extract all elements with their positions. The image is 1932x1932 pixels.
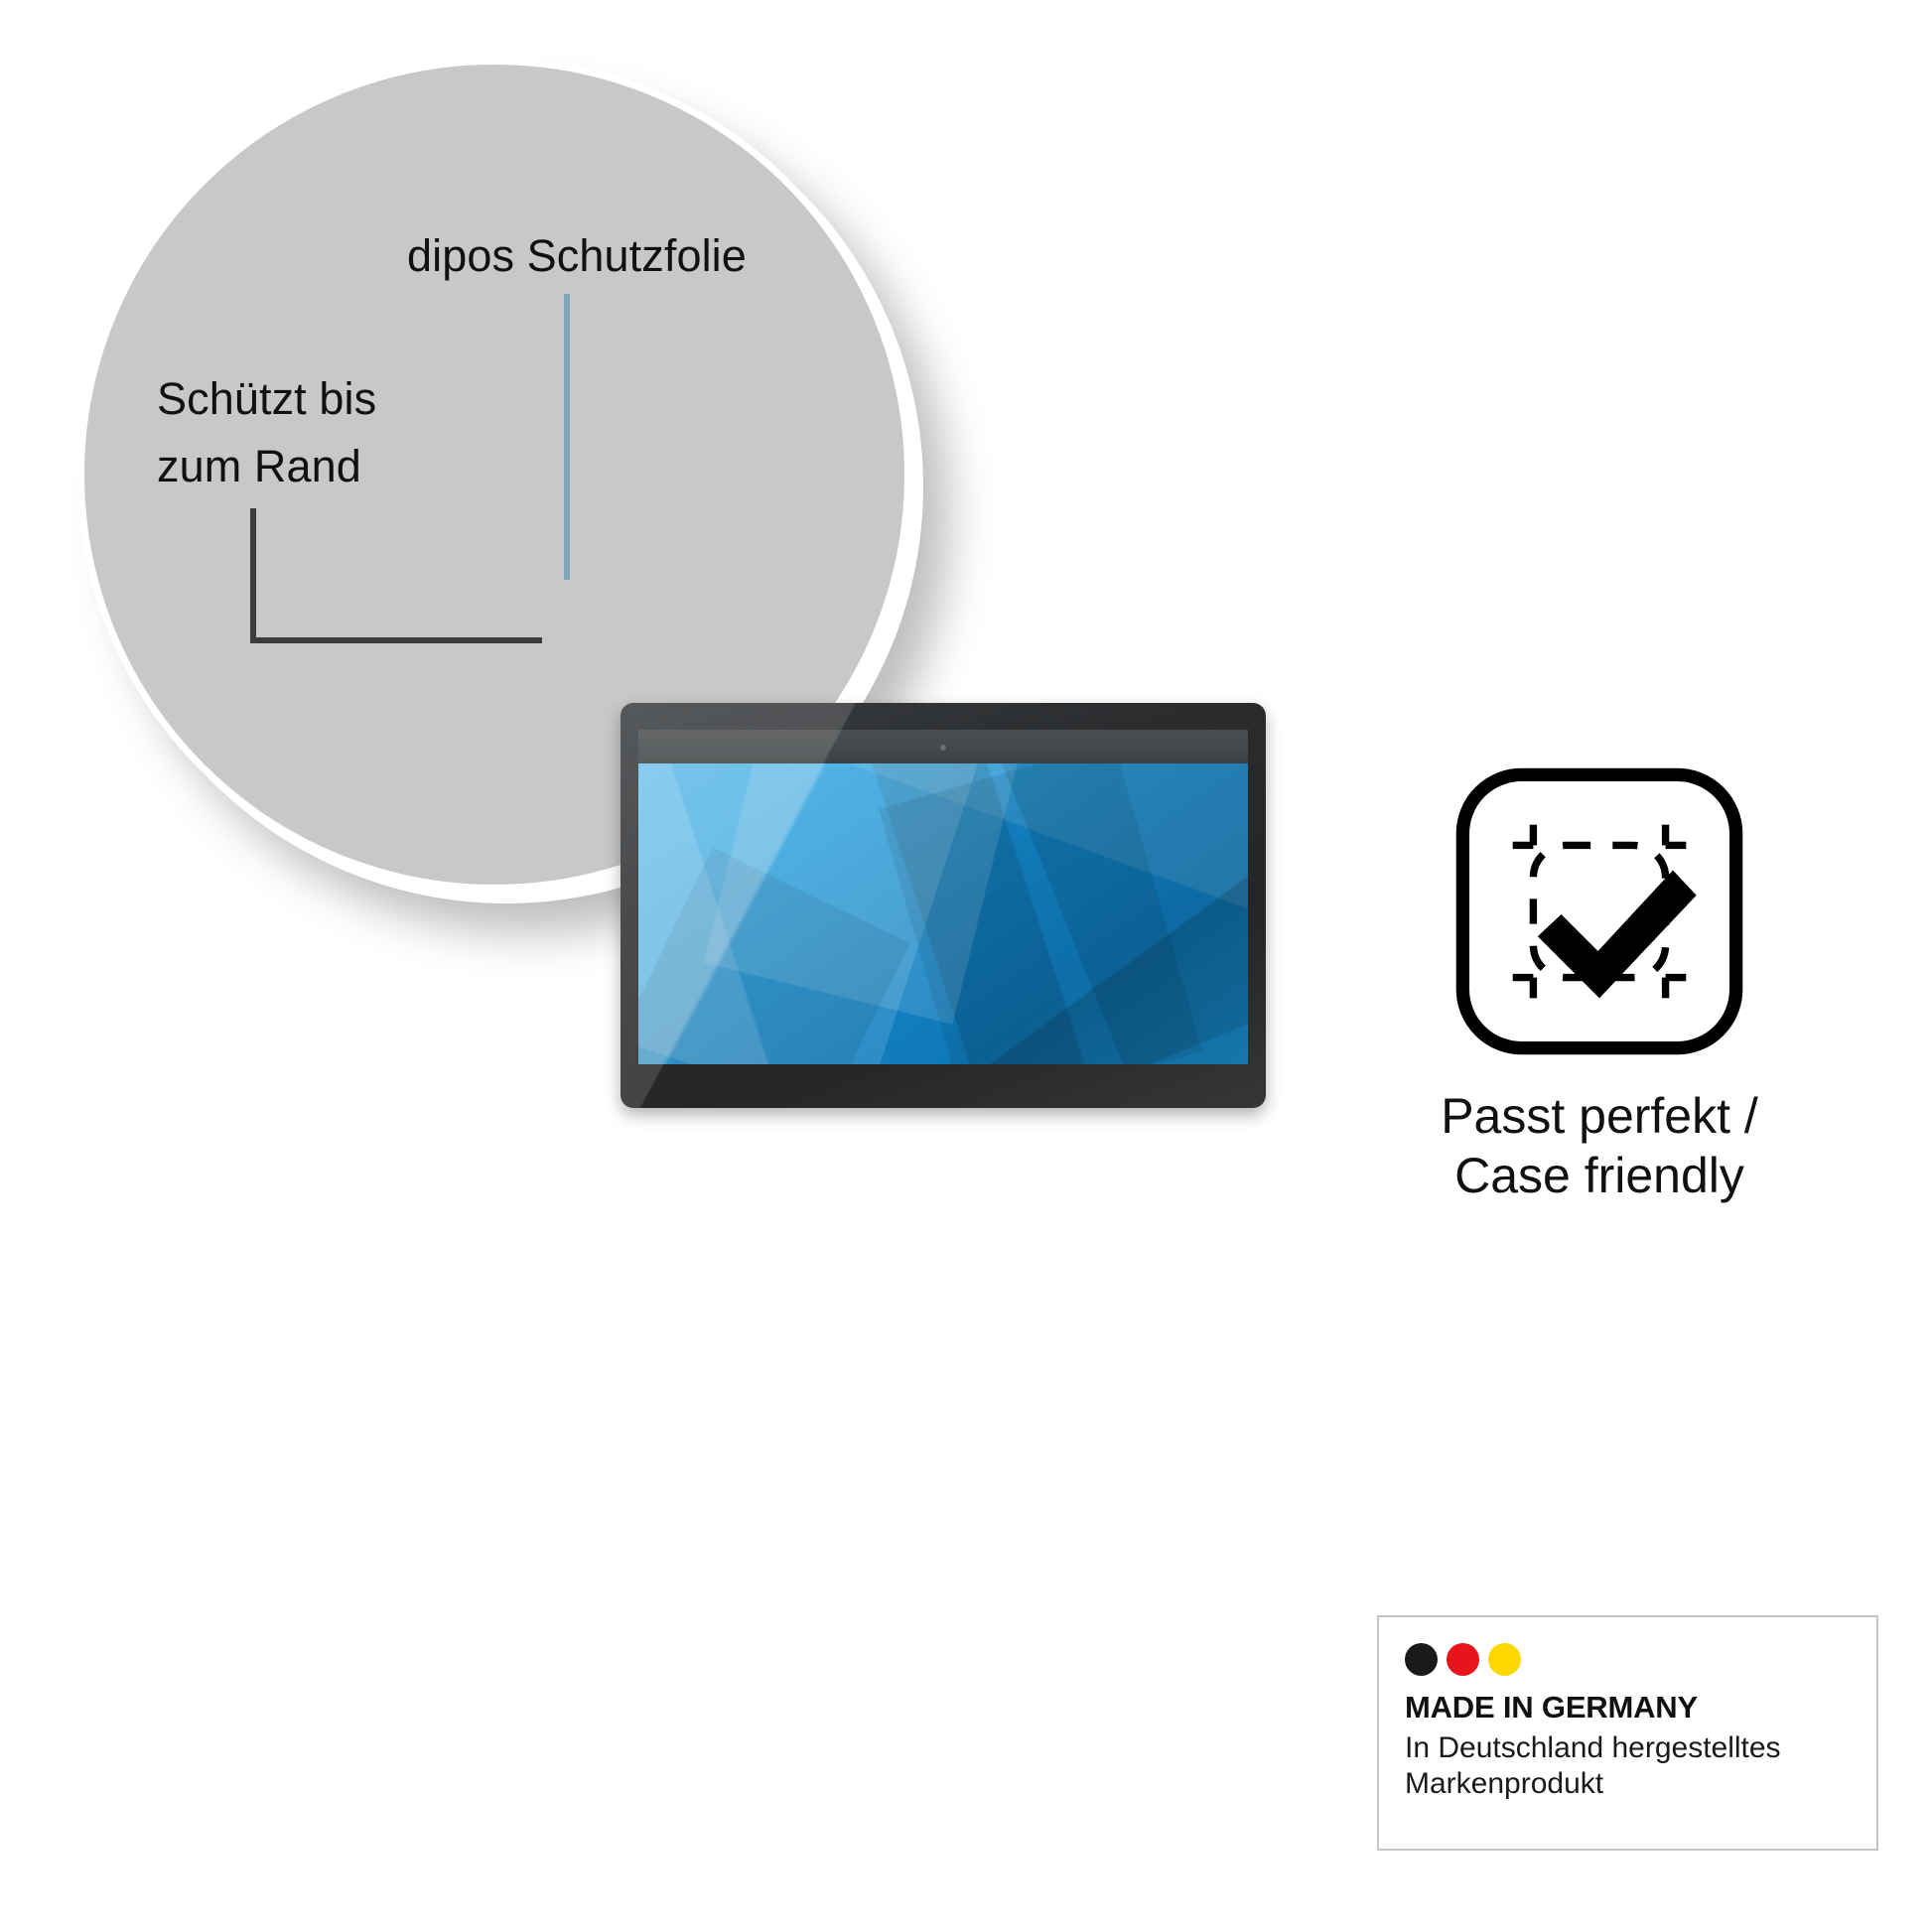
- made-in-germany-subtitle: In Deutschland hergestelltes Markenprodu…: [1405, 1730, 1876, 1803]
- bracket-horizontal-segment: [250, 637, 542, 643]
- bracket-vertical-segment: [250, 508, 256, 643]
- front-camera-icon: [940, 745, 946, 751]
- made-in-germany-badge: MADE IN GERMANY In Deutschland hergestel…: [1377, 1615, 1878, 1851]
- tablet-device: [621, 703, 1266, 1108]
- case-friendly-caption: Passt perfekt / Case friendly: [1386, 1086, 1813, 1205]
- product-pointer-line: [564, 294, 570, 580]
- flag-dot-black: [1405, 1643, 1438, 1676]
- edge-protection-label: Schützt bis zum Rand: [157, 365, 376, 499]
- case-friendly-feature: Passt perfekt / Case friendly: [1386, 764, 1813, 1205]
- flag-dot-gold: [1488, 1643, 1521, 1676]
- tablet-bezel: [621, 703, 1266, 1108]
- product-graphic-canvas: dipos Schutzfolie Schützt bis zum Rand: [0, 0, 1932, 1932]
- tablet-screen: [638, 730, 1248, 1064]
- german-flag-dots: [1405, 1643, 1876, 1676]
- fit-check-icon: [1452, 764, 1746, 1058]
- flag-dot-red: [1447, 1643, 1479, 1676]
- made-in-germany-title: MADE IN GERMANY: [1405, 1690, 1876, 1726]
- product-label: dipos Schutzfolie: [407, 230, 747, 282]
- screen-wallpaper: [638, 730, 1248, 1064]
- edge-corner-bracket-icon: [250, 508, 542, 643]
